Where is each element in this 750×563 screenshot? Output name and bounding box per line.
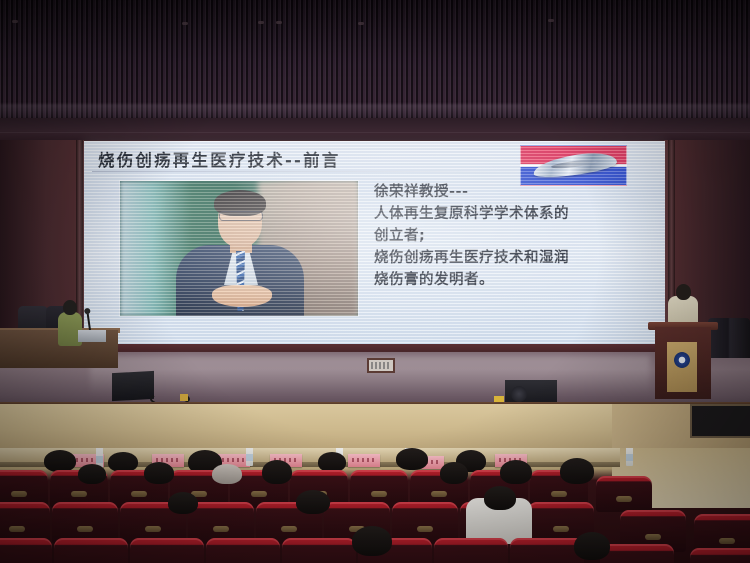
audience-area <box>0 448 750 563</box>
audience-head-grey <box>212 464 242 484</box>
water-bottle <box>626 448 633 466</box>
slide-title: 烧伤创疡再生医疗技术--前言 <box>98 147 341 171</box>
presenter-head <box>676 284 691 300</box>
audience-head <box>168 492 198 514</box>
glasses-icon <box>219 211 263 221</box>
audience-head <box>296 490 330 514</box>
audience-head <box>500 460 532 484</box>
seat <box>0 538 52 563</box>
floor-tape-left <box>180 394 188 401</box>
slide-body-line-3: 创立者; <box>374 225 654 247</box>
seat <box>510 538 584 563</box>
audience-head <box>574 532 610 560</box>
seat <box>596 476 652 512</box>
seat <box>434 538 508 563</box>
seat <box>206 538 280 563</box>
laptop <box>78 330 106 342</box>
slide-body-line-5: 烧伤膏的发明者。 <box>374 269 654 291</box>
audience-head <box>78 464 106 484</box>
audience-head <box>484 486 516 510</box>
ceiling-light-row <box>0 18 750 28</box>
seat <box>130 538 204 563</box>
stage-monitor-speaker-left <box>112 371 154 401</box>
audience-head <box>44 450 76 472</box>
seat <box>690 548 750 563</box>
audience-head <box>440 462 468 484</box>
slide-body-text: 徐荣祥教授--- 人体再生复原科学学术体系的 创立者; 烧伤创疡再生医疗技术和湿… <box>374 181 654 291</box>
apron-access-panel <box>690 404 750 438</box>
seat <box>54 538 128 563</box>
backdrop-curtain <box>0 0 750 132</box>
slide-body-line-2: 人体再生复原科学学术体系的 <box>374 203 654 225</box>
presenter-portrait-photo <box>120 181 358 316</box>
technician-head <box>63 300 77 315</box>
podium-emblem-icon <box>674 352 690 368</box>
seat <box>282 538 356 563</box>
audience-head <box>396 448 428 470</box>
lecture-hall-photo: 烧伤创疡再生医疗技术--前言 徐荣祥教授--- 人体再生复原科学学术体系的 <box>0 0 750 563</box>
audience-head <box>560 458 594 484</box>
audience-head <box>262 460 292 484</box>
presentation-slide: 烧伤创疡再生医疗技术--前言 徐荣祥教授--- 人体再生复原科学学术体系的 <box>84 141 665 346</box>
seat <box>600 544 674 563</box>
audience-head <box>318 452 346 472</box>
water-bottle <box>246 448 253 466</box>
audience-head <box>144 462 174 484</box>
title-divider <box>92 171 562 172</box>
name-card <box>348 454 380 467</box>
projection-screen: 烧伤创疡再生医疗技术--前言 徐荣祥教授--- 人体再生复原科学学术体系的 <box>84 141 665 346</box>
audience-head <box>352 526 392 556</box>
slide-body-line-4: 烧伤创疡再生医疗技术和湿润 <box>374 247 654 269</box>
stage-control-plate <box>367 358 395 373</box>
audience-head <box>108 452 138 472</box>
organization-logo-icon <box>520 145 627 186</box>
slide-body-line-1: 徐荣祥教授--- <box>374 181 654 203</box>
curtain-hem <box>0 104 750 118</box>
